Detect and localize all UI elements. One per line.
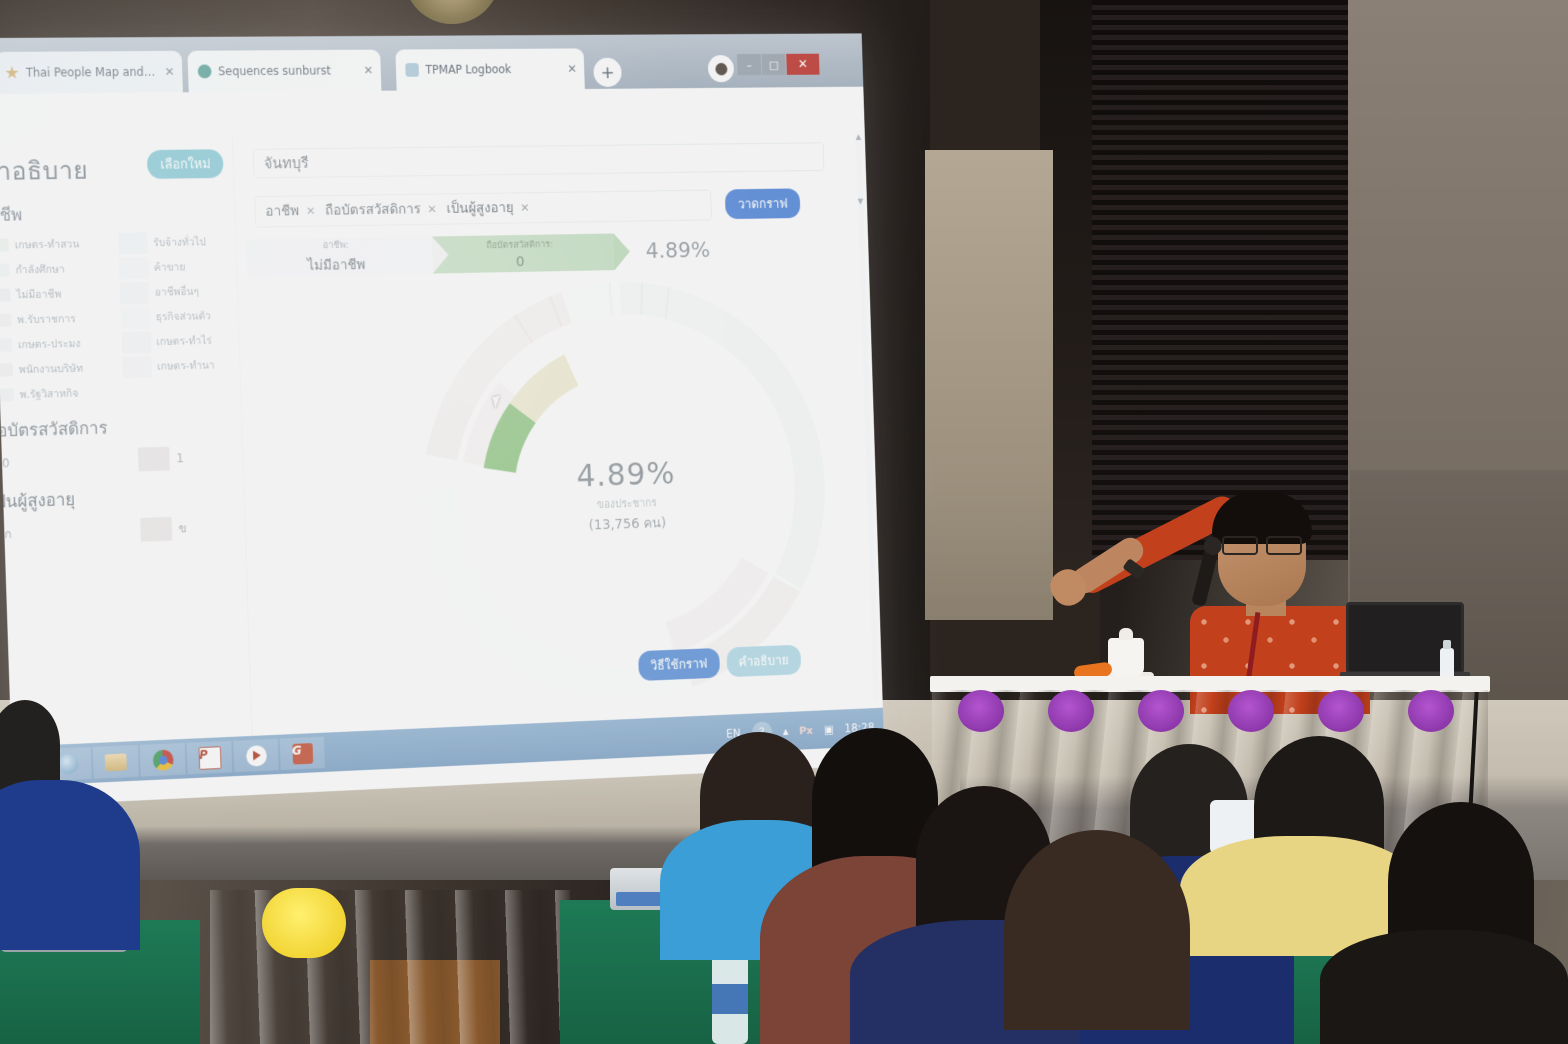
taskbar-item-foxit-pdf[interactable]: G bbox=[280, 737, 325, 770]
skirt-bow bbox=[1138, 690, 1184, 732]
profile-badge-icon[interactable] bbox=[708, 55, 735, 82]
skirt-bow bbox=[1408, 690, 1454, 732]
wall-acoustic-slats bbox=[1092, 0, 1360, 560]
legend-item[interactable]: 0 bbox=[0, 448, 139, 476]
chevron-down-icon[interactable]: ▼ bbox=[858, 197, 864, 206]
legend-item[interactable]: เกษตร-ทำไร่ bbox=[121, 327, 239, 354]
window-maximize-button[interactable]: □ bbox=[762, 54, 786, 75]
close-icon[interactable]: ✕ bbox=[567, 62, 577, 76]
legend-item[interactable]: กำลังศึกษา bbox=[0, 256, 115, 283]
window-close-button[interactable]: ✕ bbox=[786, 54, 819, 75]
legend-item[interactable]: ค้าขาย bbox=[118, 254, 236, 281]
skirt-bow bbox=[958, 690, 1004, 732]
chip-label: อาชีพ bbox=[265, 200, 299, 222]
legend-item[interactable]: พนักงานบริษัท bbox=[0, 355, 118, 383]
page-title: คำอธิบาย bbox=[0, 151, 89, 192]
swatch bbox=[0, 239, 9, 252]
taskbar-item-file-explorer[interactable] bbox=[93, 745, 139, 779]
audience-head bbox=[1004, 830, 1190, 1030]
legend-item[interactable]: เกษตร-ประมง bbox=[0, 330, 118, 358]
legend-item[interactable]: พ.รัฐวิสาหกิจ bbox=[0, 380, 119, 408]
legend-item[interactable]: เกษตร-ทำสวน bbox=[0, 231, 114, 258]
close-icon[interactable]: ✕ bbox=[306, 204, 316, 218]
legend-item[interactable]: ธุรกิจส่วนตัว bbox=[120, 303, 238, 330]
new-selection-button[interactable]: เลือกใหม่ bbox=[147, 149, 224, 179]
skirt-bow bbox=[1048, 690, 1094, 732]
legend-label: ธุรกิจส่วนตัว bbox=[155, 307, 211, 325]
swatch bbox=[122, 356, 152, 378]
sunburst-center-label: 4.89% ของประชากร (13,756 คน) bbox=[405, 450, 843, 543]
window-minimize-button[interactable]: – bbox=[737, 54, 761, 75]
coffee-cup bbox=[1108, 638, 1144, 676]
legend-item[interactable]: อาชีพอื่นๆ bbox=[119, 278, 237, 305]
legend-label: ไม่มีอาชีพ bbox=[16, 286, 61, 304]
draw-graph-button[interactable]: วาดกราฟ bbox=[725, 188, 801, 219]
legend-label: พ.รัฐวิสาหกิจ bbox=[19, 385, 78, 403]
main-content: จันทบุรี อาชีพ✕ ถือบัตรสวัสดิการ✕ เป็นผู… bbox=[233, 130, 883, 736]
legend-label: พนักงานบริษัท bbox=[19, 360, 84, 378]
breadcrumb-percent: 4.89% bbox=[645, 238, 710, 263]
swatch bbox=[0, 363, 13, 376]
presentation-scene: Thai People Map and Analytics P ✕ Sequen… bbox=[0, 0, 1568, 1044]
legend-label: ค้าขาย bbox=[154, 258, 186, 275]
taskbar-item-powerpoint[interactable]: P bbox=[187, 741, 233, 775]
legend-label: กำลังศึกษา bbox=[15, 261, 65, 279]
province-input[interactable]: จันทบุรี bbox=[253, 142, 825, 178]
presenter-hand bbox=[1044, 563, 1092, 612]
legend-button[interactable]: คำอธิบาย bbox=[726, 645, 801, 678]
water-bottle bbox=[712, 948, 748, 1044]
breadcrumb-value: ไม่มีอาชีพ bbox=[307, 254, 366, 277]
sunburst-arc bbox=[440, 399, 464, 458]
swatch bbox=[121, 331, 151, 353]
media-player-icon bbox=[246, 745, 267, 767]
legend-label: เกษตร-ทำสวน bbox=[14, 235, 79, 253]
swatch bbox=[140, 517, 172, 542]
swatch bbox=[120, 306, 150, 328]
taskbar-apps: P G bbox=[45, 737, 325, 781]
browser-tab-1[interactable]: Thai People Map and Analytics P ✕ bbox=[0, 51, 183, 94]
breadcrumb-key: อาชีพ: bbox=[323, 237, 349, 252]
legend-label: เกษตร-ทำไร่ bbox=[156, 332, 212, 350]
taskbar-item-chrome[interactable] bbox=[140, 743, 186, 777]
browser-tab-1-title: Thai People Map and Analytics P bbox=[26, 65, 158, 80]
close-icon[interactable]: ✕ bbox=[164, 65, 174, 79]
tray-app-icon-2[interactable]: ▣ bbox=[824, 722, 834, 736]
chip-label: ถือบัตรสวัสดิการ bbox=[325, 199, 421, 222]
internet-explorer-icon bbox=[58, 754, 78, 775]
legend-item-spacer bbox=[122, 377, 240, 405]
how-to-use-graph-button[interactable]: วิธีใช้กราฟ bbox=[638, 648, 720, 681]
sunburst-chart[interactable]: 4.89% ของประชากร (13,756 คน) วิธีใช้กราฟ… bbox=[255, 273, 866, 717]
legend-header: คำอธิบาย เลือกใหม่ bbox=[0, 147, 234, 192]
filter-chip-bar[interactable]: อาชีพ✕ ถือบัตรสวัสดิการ✕ เป็นผู้สูงอายุ✕ bbox=[254, 190, 712, 228]
legend-grid-occupation: เกษตร-ทำสวน รับจ้างทั่วไป กำลังศึกษา ค้า… bbox=[0, 229, 241, 408]
globe-icon bbox=[198, 64, 212, 78]
tpmap-page: คำอธิบาย เลือกใหม่ อาชีพ เกษตร-ทำสวน รับ… bbox=[0, 130, 883, 746]
projection-screen: Thai People Map and Analytics P ✕ Sequen… bbox=[0, 33, 885, 806]
swatch bbox=[0, 388, 14, 401]
swatch bbox=[138, 447, 170, 472]
file-explorer-icon bbox=[105, 753, 127, 771]
microphone bbox=[1191, 547, 1219, 607]
legend-item[interactable]: เกษตร-ทำนา bbox=[122, 352, 240, 379]
chrome-icon bbox=[152, 749, 173, 771]
swatch bbox=[0, 264, 10, 277]
legend-label: เกษตร-ประมง bbox=[18, 335, 81, 353]
swatch bbox=[0, 313, 11, 326]
browser-tab-2-title: Sequences sunburst bbox=[218, 64, 331, 79]
legend-label: ก bbox=[4, 525, 12, 544]
swatch bbox=[118, 257, 148, 279]
filter-chip-elderly[interactable]: เป็นผู้สูงอายุ✕ bbox=[446, 197, 530, 220]
eyeglasses-icon bbox=[1222, 536, 1302, 551]
legend-label: พ.รับราชการ bbox=[17, 310, 76, 328]
new-tab-button[interactable]: + bbox=[593, 58, 622, 87]
powerpoint-icon: P bbox=[198, 746, 221, 770]
legend-section-heading-welfare-card: ถือบัตรสวัสดิการ bbox=[0, 411, 242, 445]
swatch bbox=[0, 338, 12, 351]
close-icon[interactable]: ✕ bbox=[520, 201, 530, 215]
swatch bbox=[0, 288, 11, 301]
breadcrumb-key: ถือบัตรสวัสดิการ: bbox=[486, 237, 553, 253]
legend-item[interactable]: รับจ้างทั่วไป bbox=[117, 229, 235, 256]
legend-item[interactable]: พ.รับราชการ bbox=[0, 305, 117, 332]
swatch bbox=[118, 232, 148, 254]
page-icon bbox=[405, 63, 419, 77]
legend-item[interactable]: 1 bbox=[138, 446, 184, 471]
close-icon[interactable]: ✕ bbox=[363, 63, 373, 77]
bottle-label bbox=[712, 984, 748, 1014]
browser-tab-3[interactable]: TPMAP Logbook ✕ bbox=[395, 48, 585, 90]
legend-pair-row: 0 1 bbox=[2, 442, 243, 479]
legend-label: 0 bbox=[2, 456, 10, 470]
tray-app-icon-1[interactable]: Px bbox=[799, 724, 813, 737]
legend-sidebar: คำอธิบาย เลือกใหม่ อาชีพ เกษตร-ทำสวน รับ… bbox=[0, 137, 252, 746]
filter-chip-welfare-card[interactable]: ถือบัตรสวัสดิการ✕ bbox=[325, 198, 438, 221]
chevron-up-icon[interactable]: ▲ bbox=[783, 727, 789, 736]
skirt-bow bbox=[1228, 690, 1274, 732]
legend-pair-row: ก ข bbox=[4, 512, 245, 550]
swatch bbox=[119, 281, 149, 303]
legend-label: ข bbox=[178, 519, 187, 538]
legend-label: 1 bbox=[176, 451, 184, 465]
audience-body bbox=[0, 780, 140, 950]
yellow-drape-bow bbox=[262, 888, 346, 958]
province-field-wrap: จันทบุรี bbox=[253, 142, 825, 178]
legend-label: รับจ้างทั่วไป bbox=[153, 233, 206, 251]
browser-tab-3-title: TPMAP Logbook bbox=[425, 62, 511, 76]
audience-body bbox=[1320, 930, 1568, 1044]
legend-label: อาชีพอื่นๆ bbox=[155, 283, 200, 301]
legend-item[interactable]: ไม่มีอาชีพ bbox=[0, 281, 116, 308]
filter-chip-occupation[interactable]: อาชีพ✕ bbox=[265, 200, 316, 222]
skirt-bow bbox=[1318, 690, 1364, 732]
star-icon bbox=[5, 66, 19, 80]
wall-beige-left bbox=[925, 150, 1053, 620]
chip-label: เป็นผู้สูงอายุ bbox=[446, 197, 514, 219]
legend-label: เกษตร-ทำนา bbox=[157, 357, 215, 375]
taskbar-item-media-player[interactable] bbox=[233, 739, 278, 773]
legend-item[interactable]: ก bbox=[0, 518, 141, 547]
legend-section-heading-elderly: เป็นผู้สูงอายุ bbox=[0, 481, 244, 516]
legend-section-heading-occupation: อาชีพ bbox=[0, 198, 235, 229]
chevron-up-icon[interactable]: ▲ bbox=[856, 132, 862, 141]
foxit-pdf-icon: G bbox=[292, 743, 313, 765]
close-icon[interactable]: ✕ bbox=[427, 202, 437, 216]
browser-tab-bar: Thai People Map and Analytics P ✕ Sequen… bbox=[0, 33, 863, 94]
legend-item[interactable]: ข bbox=[140, 516, 187, 541]
wristwatch bbox=[1122, 558, 1145, 579]
browser-tab-2[interactable]: Sequences sunburst ✕ bbox=[187, 50, 381, 93]
